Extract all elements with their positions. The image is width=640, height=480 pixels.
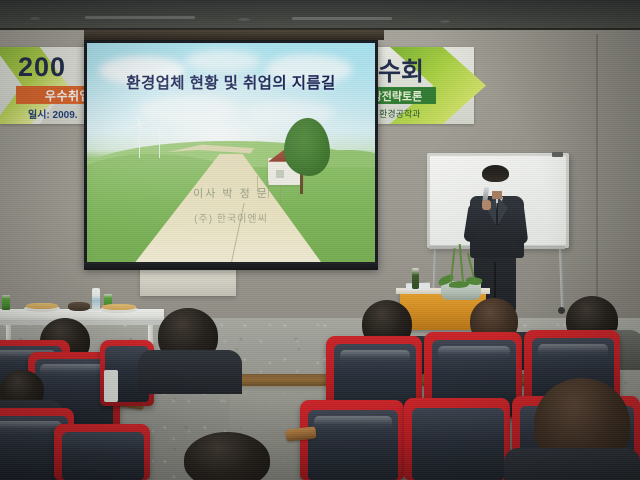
seat-cushion <box>412 408 504 480</box>
banner-year: 200 <box>18 52 66 82</box>
banner-date: 일시: 2009. <box>28 106 78 121</box>
banner-title-right: 수회 <box>378 52 424 88</box>
seat-highlight <box>40 364 106 377</box>
snack-food <box>102 304 136 310</box>
seat-highlight <box>0 421 62 434</box>
water-bottle <box>92 288 100 310</box>
orchid-bloom <box>452 266 461 274</box>
wall-corner-edge <box>596 34 598 330</box>
banner-green-text: 강전략토론 <box>372 88 423 104</box>
projection-screen: 환경업체 현황 및 취업의 지름길 이사 박 정 문 (주) 한국이엔씨 <box>84 40 378 268</box>
wind-turbine-blades-icon <box>147 125 173 138</box>
ceiling <box>0 0 640 30</box>
orchid-bloom <box>440 240 451 250</box>
audience-head <box>184 432 270 480</box>
audience-shoulders <box>504 448 640 480</box>
seat-highlight <box>340 350 410 363</box>
audience-notebook <box>104 370 118 402</box>
orchid-bloom <box>451 234 461 243</box>
tree-icon <box>284 118 330 176</box>
photo-scene: 200 수회 우수취업 강전략토론 일시: 2009. 학교 환경공학과 <box>0 0 640 480</box>
house-window-icon <box>276 170 285 179</box>
slide-presenter-line: 이사 박 정 문 <box>87 185 375 201</box>
screen-mount-bar <box>84 30 384 40</box>
screen-bottom-edge <box>84 262 378 270</box>
ceiling-light-fixture <box>30 17 40 20</box>
snack-food <box>26 303 58 309</box>
ceiling-light-fixture <box>292 17 392 20</box>
ceiling-light-fixture <box>440 20 450 23</box>
whiteboard-clip-icon <box>552 152 563 157</box>
ceiling-light-fixture <box>85 16 195 19</box>
seat-highlight <box>538 344 608 357</box>
presentation-slide: 환경업체 현황 및 취업의 지름길 이사 박 정 문 (주) 한국이엔씨 <box>87 43 375 265</box>
slide-company-line: (주) 한국이엔씨 <box>87 210 375 225</box>
orchid-bloom <box>470 258 480 267</box>
seat-highlight <box>438 346 510 359</box>
seat-highlight <box>314 416 392 430</box>
presenter-hand <box>482 200 491 210</box>
ceiling-light-fixture <box>238 18 250 21</box>
orchid-bloom <box>444 254 454 263</box>
orchid-bloom <box>462 236 474 246</box>
cloud-icon <box>185 50 260 72</box>
seat-cushion <box>62 432 144 480</box>
snack-tray <box>68 302 90 311</box>
podium-bottle <box>412 268 419 289</box>
slide-title: 환경업체 현황 및 취업의 지름길 <box>87 71 375 93</box>
presenter-hair <box>482 165 509 182</box>
cloud-icon <box>248 101 334 125</box>
orchid-bloom <box>474 242 485 252</box>
drink-can <box>2 295 10 310</box>
whiteboard-caster <box>558 307 565 314</box>
audience-shoulders <box>138 350 242 394</box>
orchid-bloom <box>458 252 469 262</box>
